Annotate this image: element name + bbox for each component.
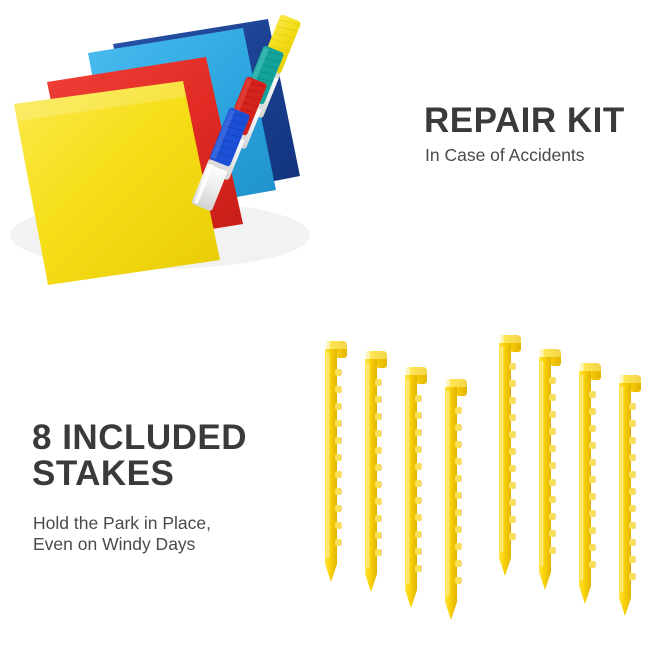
stake-3 bbox=[405, 367, 427, 608]
stake-5 bbox=[499, 335, 521, 576]
repair-kit-svg bbox=[0, 0, 420, 300]
stake-8 bbox=[619, 375, 641, 616]
repair-kit-title: REPAIR KIT bbox=[424, 103, 625, 139]
stake-2 bbox=[365, 351, 387, 592]
repair-kit-subtitle: In Case of Accidents bbox=[425, 145, 585, 166]
patch-yellow-shape bbox=[14, 81, 220, 285]
stakes-title: 8 INCLUDED STAKES bbox=[32, 420, 247, 491]
stakes-svg bbox=[305, 325, 660, 645]
stake-4 bbox=[445, 379, 467, 620]
product-infographic: REPAIR KIT In Case of Accidents 8 INCLUD… bbox=[0, 0, 660, 660]
stake-7 bbox=[579, 363, 601, 604]
stake-1 bbox=[325, 341, 347, 582]
stake-6 bbox=[539, 349, 561, 590]
stakes-subtitle: Hold the Park in Place, Even on Windy Da… bbox=[33, 513, 211, 556]
